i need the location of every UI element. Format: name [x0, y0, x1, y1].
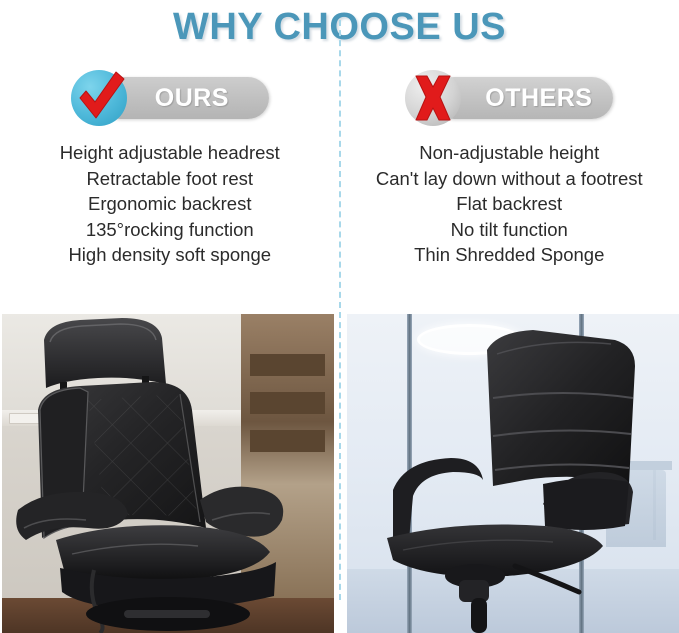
check-mark-icon [71, 70, 127, 126]
list-item: Flat backrest [376, 191, 643, 217]
ours-label: OURS [155, 84, 229, 113]
list-item: Ergonomic backrest [60, 191, 280, 217]
column-divider [339, 20, 341, 600]
ours-product-photo [2, 314, 334, 633]
others-circle [405, 70, 461, 126]
badge-ours: OURS [71, 70, 269, 126]
ours-circle [71, 70, 127, 126]
others-feature-list: Non-adjustable height Can't lay down wit… [376, 140, 643, 268]
list-item: 135°rocking function [60, 217, 280, 243]
others-product-photo [347, 314, 679, 633]
others-chair-illustration [347, 314, 679, 633]
list-item: High density soft sponge [60, 242, 280, 268]
badge-others: OTHERS [405, 70, 613, 126]
ours-chair-illustration [2, 314, 334, 633]
list-item: Can't lay down without a footrest [376, 166, 643, 192]
column-ours: OURS Height adjustable headrest Retracta… [0, 52, 340, 314]
list-item: Non-adjustable height [376, 140, 643, 166]
list-item: Height adjustable headrest [60, 140, 280, 166]
list-item: No tilt function [376, 217, 643, 243]
cross-mark-icon [405, 70, 461, 126]
list-item: Thin Shredded Sponge [376, 242, 643, 268]
others-label: OTHERS [485, 84, 592, 113]
list-item: Retractable foot rest [60, 166, 280, 192]
ours-feature-list: Height adjustable headrest Retractable f… [60, 140, 280, 268]
column-others: OTHERS Non-adjustable height Can't lay d… [340, 52, 679, 314]
